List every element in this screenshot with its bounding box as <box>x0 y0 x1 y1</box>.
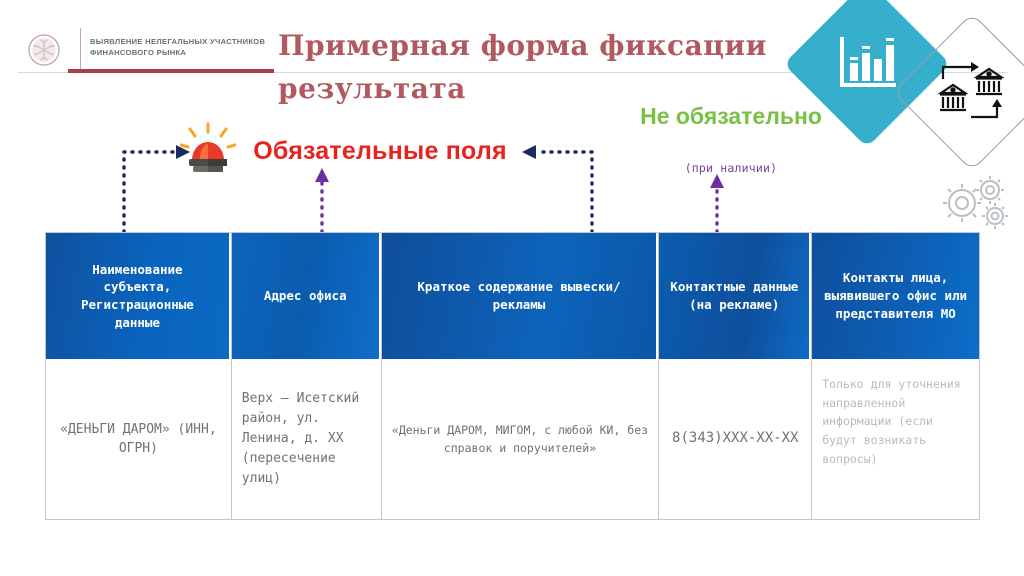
table-body-cell: Верх – Исетский район, ул. Ленина, д. ХХ… <box>232 359 381 519</box>
table-column-contacts-ad: Контактные данные (на рекламе) 8(343)ХХХ… <box>659 233 812 519</box>
table-column-subject: Наименование субъекта, Регистрационные д… <box>46 233 232 519</box>
table-header-cell: Наименование субъекта, Регистрационные д… <box>46 233 231 359</box>
table-body-cell: Только для уточнения направленной информ… <box>812 359 979 519</box>
slide-root: ВЫЯВЛЕНИЕ НЕЛЕГАЛЬНЫХ УЧАСТНИКОВ ФИНАНСО… <box>0 0 1024 576</box>
table-body-cell: «ДЕНЬГИ ДАРОМ» (ИНН, ОГРН) <box>46 359 231 519</box>
table-header-cell: Краткое содержание вывески/ рекламы <box>382 233 659 359</box>
table-body-cell: 8(343)ХХХ-ХХ-ХХ <box>659 359 811 519</box>
table-header-cell: Контактные данные (на рекламе) <box>659 233 811 359</box>
table-header-cell: Контакты лица, выявившего офис или предс… <box>812 233 979 359</box>
table-header-cell: Адрес офиса <box>232 233 381 359</box>
table-column-reporter-contacts: Контакты лица, выявившего офис или предс… <box>812 233 979 519</box>
table-body-cell: «Деньги ДАРОМ, МИГОМ, с любой КИ, без сп… <box>382 359 659 519</box>
table-column-address: Адрес офиса Верх – Исетский район, ул. Л… <box>232 233 382 519</box>
result-form-table: Наименование субъекта, Регистрационные д… <box>45 232 980 520</box>
table-column-signage: Краткое содержание вывески/ рекламы «Ден… <box>382 233 660 519</box>
